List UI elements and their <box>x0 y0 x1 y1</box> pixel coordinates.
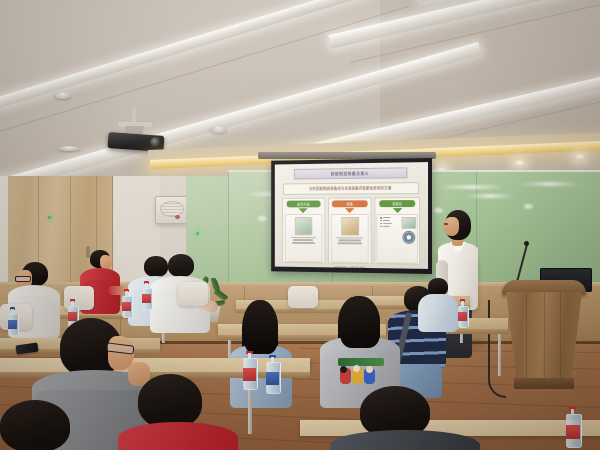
smoke-detector-icon <box>210 126 227 133</box>
downlight-icon <box>514 160 525 166</box>
slide-column: 智能化 <box>375 197 420 265</box>
slide-column: 装备 <box>328 197 372 264</box>
lectern-base <box>514 378 574 389</box>
glasses-icon <box>15 276 31 282</box>
slide-thumbnail <box>401 217 416 229</box>
shirt-graphic-head <box>353 365 360 372</box>
shirt-graphic-head <box>340 366 347 373</box>
presenter-eye <box>444 223 448 225</box>
panel-led-icon <box>196 232 199 235</box>
slide-column-body <box>331 214 369 263</box>
slide-column-body <box>285 214 322 262</box>
chair[interactable] <box>178 282 208 306</box>
slide-title-text: 智能制造装备及意义 <box>331 170 369 176</box>
student-red-shirt-front <box>118 374 246 450</box>
slide-column-arrow-icon <box>345 208 354 213</box>
power-cable <box>488 300 506 398</box>
slide: 智能制造装备及意义 分析智能制造装备成为未来装备向智能化转型的方案 技术升级 <box>275 162 428 269</box>
torso <box>330 430 480 450</box>
smoke-detector-icon <box>58 146 80 151</box>
slide-column-header: 技术升级 <box>286 201 320 208</box>
torso <box>418 294 458 332</box>
wall-speaker-unit <box>155 196 187 224</box>
long-hair-front <box>244 302 278 354</box>
gear-icon <box>402 231 415 244</box>
face <box>100 255 112 269</box>
slide-column-label: 装备 <box>346 201 352 206</box>
slide-bullet-list <box>379 217 400 227</box>
slide-footer: 资料来源：公开资料整理 <box>279 265 423 269</box>
lectern[interactable] <box>496 256 592 396</box>
slide-column-header: 智能化 <box>379 200 415 207</box>
slide-thumbnail <box>341 217 359 236</box>
wall-led-icon <box>48 216 51 219</box>
classroom-photo: 智能制造装备及意义 分析智能制造装备成为未来装备向智能化转型的方案 技术升级 <box>0 0 600 450</box>
slide-column: 技术升级 <box>282 198 325 264</box>
slide-column-body <box>377 214 418 264</box>
slide-columns: 技术升级 装备 <box>282 197 420 265</box>
microphone-icon <box>524 241 529 246</box>
slide-column-arrow-icon <box>392 208 402 213</box>
presenter-face <box>443 217 459 236</box>
status-led-icon <box>175 215 180 219</box>
ceiling-projector <box>106 108 166 152</box>
slide-thumbnail <box>295 217 312 235</box>
screen-surface: 智能制造装备及意义 分析智能制造装备成为未来装备向智能化转型的方案 技术升级 <box>275 162 428 269</box>
slide-column-label: 技术升级 <box>297 202 309 207</box>
slide-title-bar: 智能制造装备及意义 <box>294 167 408 179</box>
student-blue-shirt-right <box>418 278 458 332</box>
shirt-graphic-text <box>338 358 384 366</box>
slide-column-arrow-icon <box>299 208 308 213</box>
smoke-detector-icon <box>54 92 71 99</box>
speaker-grille-icon <box>160 201 184 217</box>
slide-column-label: 智能化 <box>392 201 402 206</box>
torso <box>118 422 238 450</box>
head <box>138 374 202 428</box>
downlight-icon <box>574 154 585 160</box>
chair[interactable] <box>288 286 318 308</box>
head <box>0 400 70 450</box>
long-hair-front <box>340 298 380 348</box>
head <box>168 254 194 277</box>
projection-screen[interactable]: 智能制造装备及意义 分析智能制造装备成为未来装备向智能化转型的方案 技术升级 <box>271 158 432 274</box>
student-dark-front-right <box>330 386 480 450</box>
slide-subtitle-text: 分析智能制造装备成为未来装备向智能化转型的方案 <box>309 185 392 192</box>
student-foreground-left <box>0 400 110 450</box>
shirt-graphic-head <box>366 366 373 373</box>
slide-column-header: 装备 <box>332 200 367 207</box>
slide-subtitle-box: 分析智能制造装备成为未来装备向智能化转型的方案 <box>283 182 419 195</box>
